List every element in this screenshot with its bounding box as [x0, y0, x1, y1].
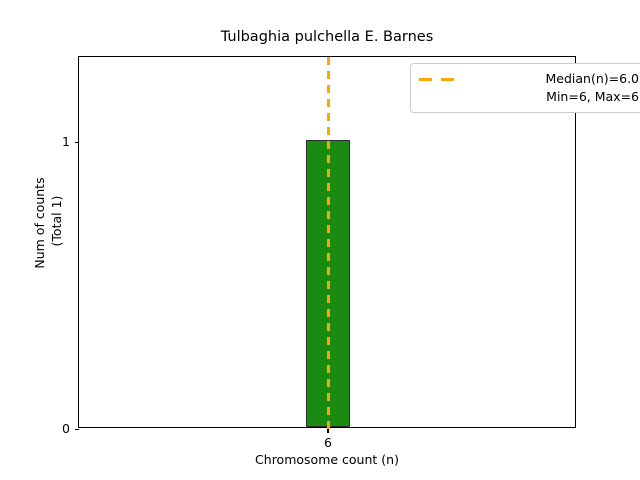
x-axis-tick-label-6: 6	[288, 435, 368, 451]
x-axis-tick-mark	[327, 429, 328, 433]
legend-label-median: Median(n)=6.0	[473, 70, 639, 88]
legend-spacer-icon	[419, 96, 463, 99]
dashed-line-icon	[419, 78, 463, 81]
page-title: Tulbaghia pulchella E. Barnes	[78, 28, 576, 46]
y-axis-label: Num of counts (Total 1)	[31, 23, 65, 423]
legend[interactable]: Median(n)=6.0 Min=6, Max=6	[410, 63, 640, 113]
plot-area: 0 1 6 Median(n)=6.0 Min=6, Max=6	[78, 56, 576, 428]
median-line-annotation	[327, 57, 330, 429]
x-axis-label: Chromosome count (n)	[78, 452, 576, 468]
legend-entry-median: Median(n)=6.0	[419, 70, 639, 88]
legend-label-minmax: Min=6, Max=6	[473, 88, 639, 106]
legend-entry-minmax: Min=6, Max=6	[419, 88, 639, 106]
chart-figure: Tulbaghia pulchella E. Barnes 0 1 6 Medi…	[0, 0, 640, 480]
